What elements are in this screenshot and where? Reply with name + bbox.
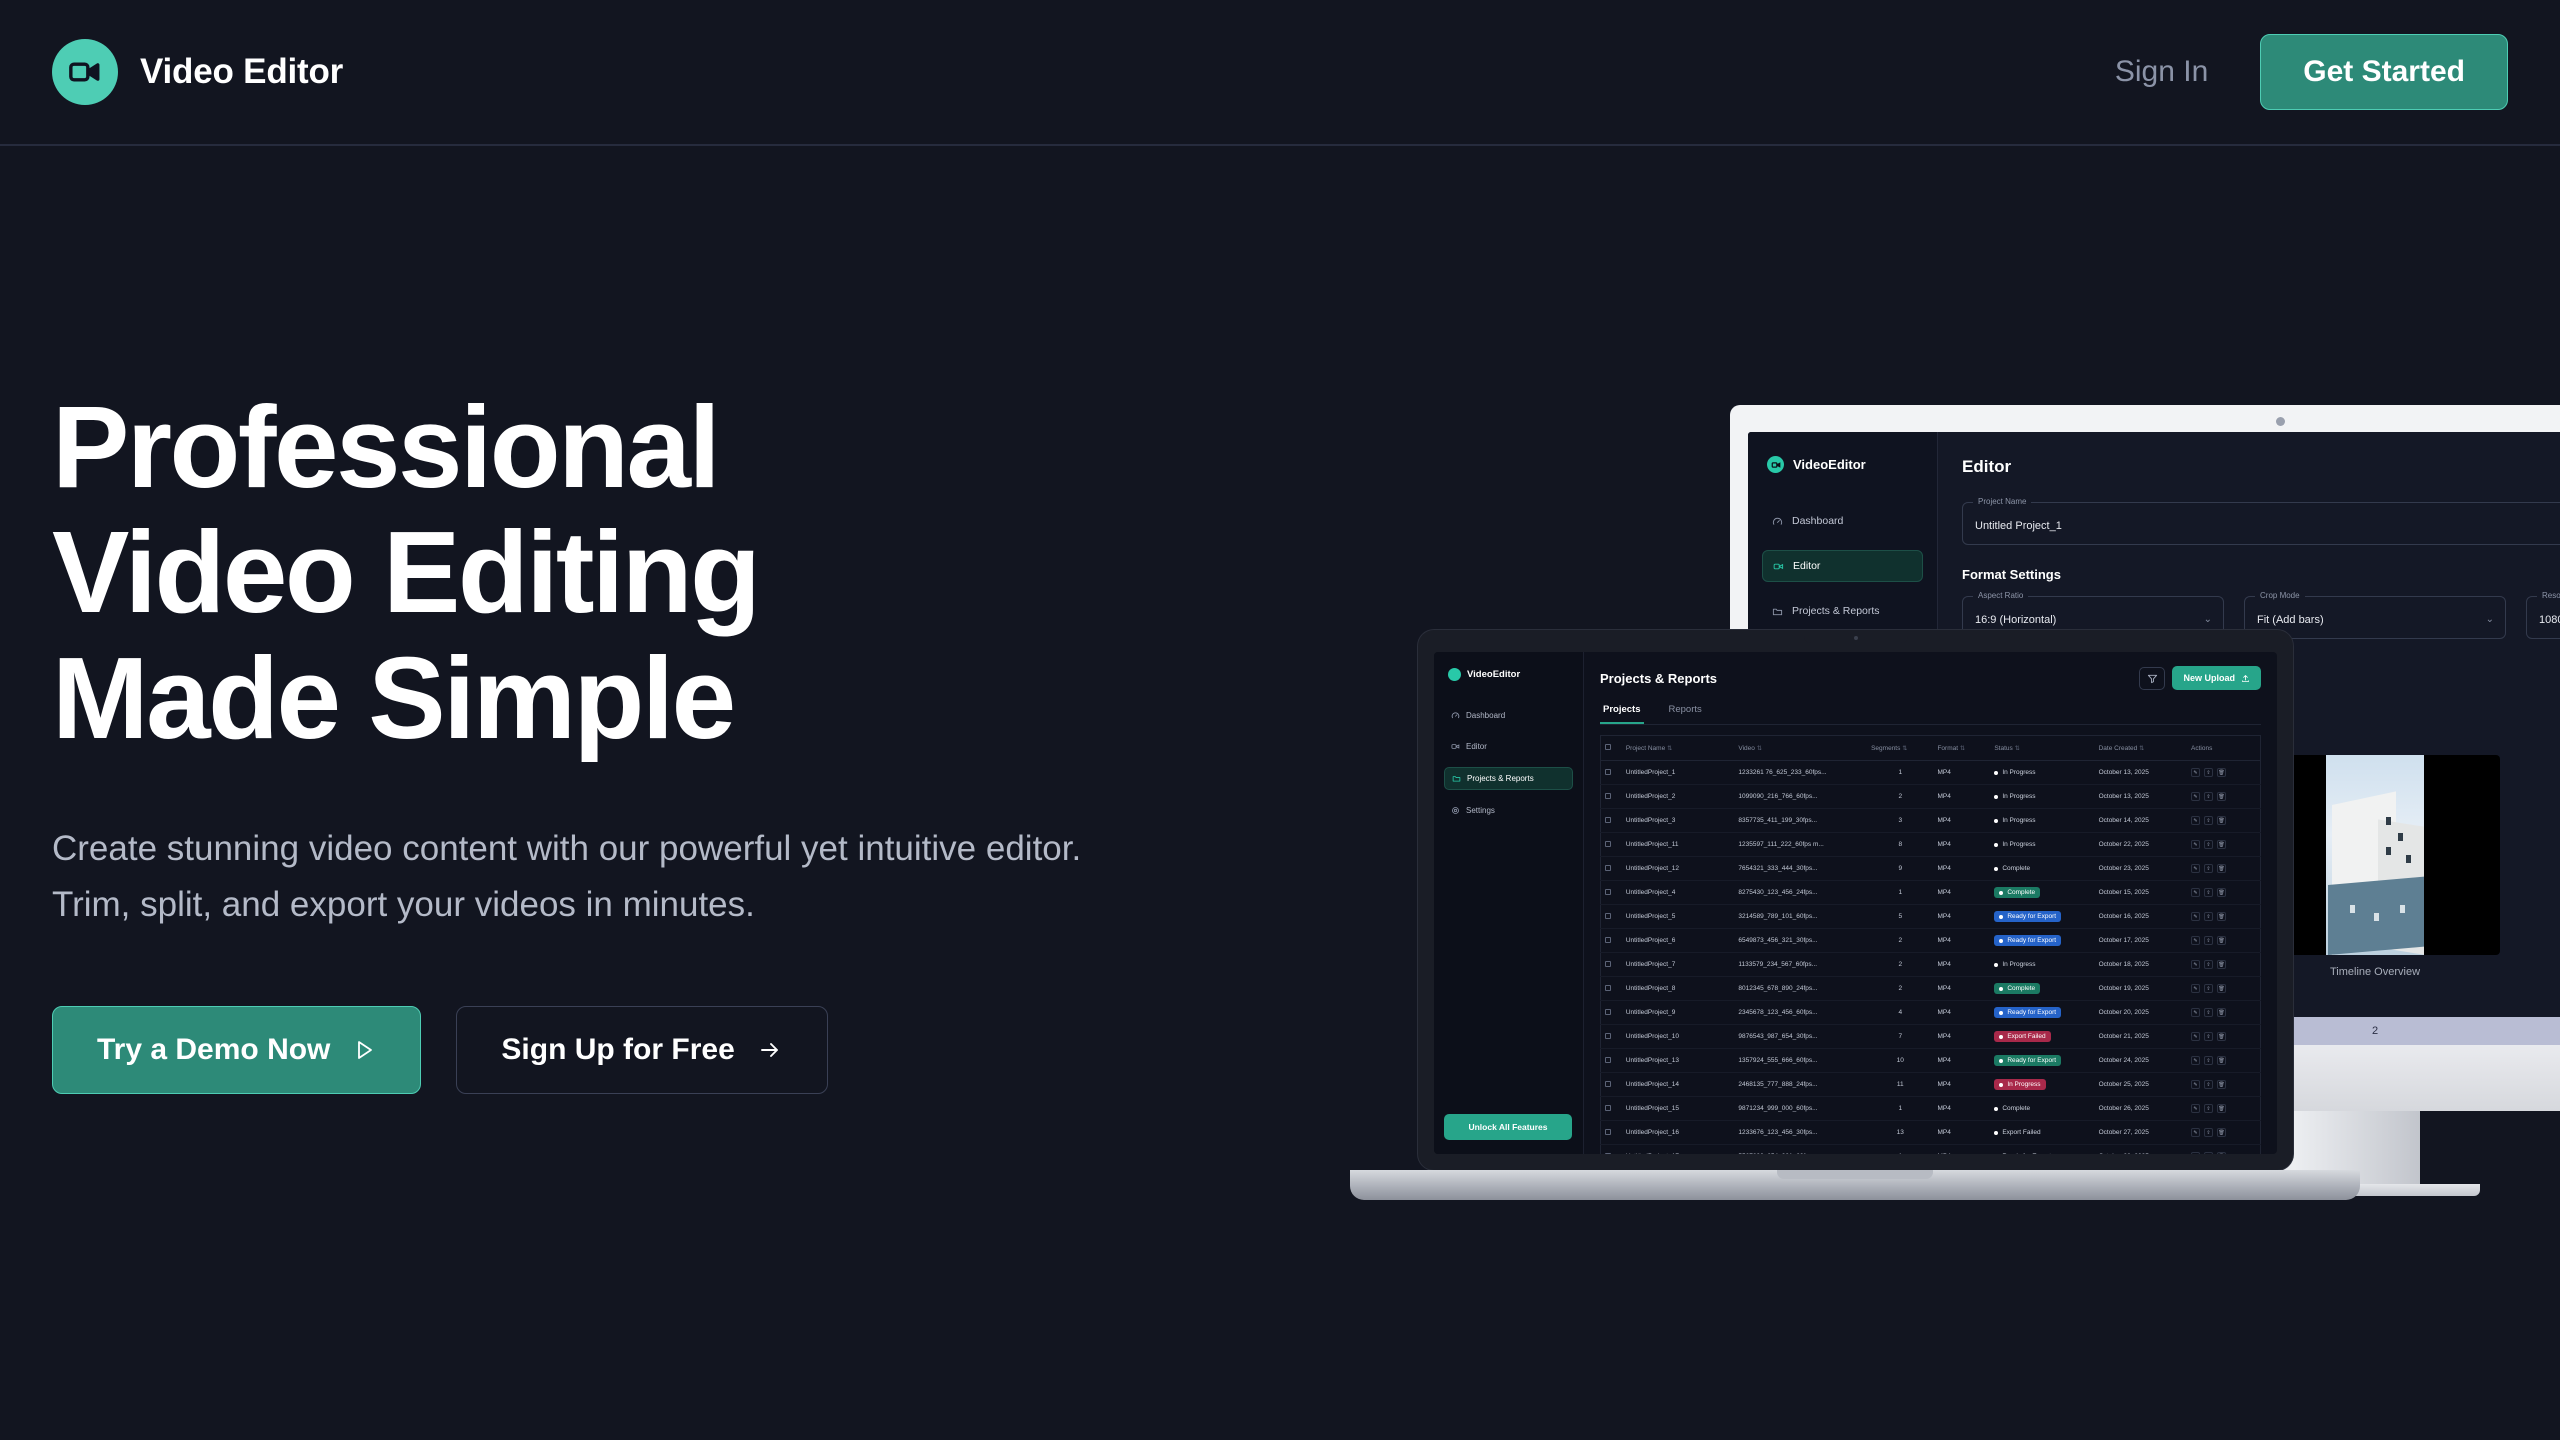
row-checkbox[interactable] (1601, 833, 1622, 857)
cell-actions: ✎⇧🗑 (2187, 953, 2261, 977)
sidebar-item-label: Dashboard (1466, 711, 1505, 720)
cell-segments: 1 (1867, 761, 1933, 785)
cell-actions: ✎⇧🗑 (2187, 785, 2261, 809)
export-icon[interactable]: ⇧ (2204, 840, 2213, 849)
projects-page-title: Projects & Reports (1600, 671, 1717, 686)
cell-video: 2468135_777_888_24fps... (1734, 1073, 1867, 1097)
status-badge: Ready for Export (1994, 1055, 2061, 1066)
sidebar-item-label: Dashboard (1792, 515, 1843, 527)
delete-icon[interactable]: 🗑 (2217, 816, 2226, 825)
delete-icon[interactable]: 🗑 (2217, 864, 2226, 873)
cell-project-name: UntitledProject_12 (1622, 857, 1735, 881)
cell-status: Ready for Export (1990, 1001, 2094, 1025)
cell-status: Export Failed (1990, 1121, 2094, 1145)
cell-date-created: October 13, 2025 (2095, 785, 2187, 809)
cell-actions: ✎⇧🗑 (2187, 833, 2261, 857)
cell-segments: 2 (1867, 929, 1933, 953)
cell-project-name: UntitledProject_15 (1622, 1097, 1735, 1121)
cell-status: In Progress (1990, 809, 2094, 833)
table-row[interactable]: UntitledProject_109876543_987_654_30fps.… (1601, 1025, 2261, 1049)
cell-format: MP4 (1933, 977, 1990, 1001)
export-icon[interactable]: ⇧ (2204, 1008, 2213, 1017)
cell-segments: 13 (1867, 1121, 1933, 1145)
cell-video: 1133579_234_567_60fps... (1734, 953, 1867, 977)
cell-format: MP4 (1933, 953, 1990, 977)
cell-video: 6549873_456_321_30fps... (1734, 929, 1867, 953)
edit-icon[interactable]: ✎ (2191, 888, 2200, 897)
cell-actions: ✎⇧🗑 (2187, 1025, 2261, 1049)
table-row[interactable]: UntitledProject_48275430_123_456_24fps..… (1601, 881, 2261, 905)
export-icon[interactable]: ⇧ (2204, 1152, 2213, 1154)
table-row[interactable]: UntitledProject_159871234_999_000_60fps.… (1601, 1097, 2261, 1121)
row-checkbox[interactable] (1601, 1049, 1622, 1073)
new-upload-label: New Upload (2183, 673, 2235, 683)
cell-actions: ✎⇧🗑 (2187, 929, 2261, 953)
cell-status: Complete (1990, 1097, 2094, 1121)
row-checkbox[interactable] (1601, 1025, 1622, 1049)
table-row[interactable]: UntitledProject_92345678_123_456_60fps..… (1601, 1001, 2261, 1025)
laptop-camera-dot (1854, 636, 1858, 640)
export-icon[interactable]: ⇧ (2204, 816, 2213, 825)
delete-icon[interactable]: 🗑 (2217, 1080, 2226, 1089)
cell-status: Complete (1990, 857, 2094, 881)
row-checkbox[interactable] (1601, 1097, 1622, 1121)
delete-icon[interactable]: 🗑 (2217, 936, 2226, 945)
cell-date-created: October 21, 2025 (2095, 1025, 2187, 1049)
cell-segments: 2 (1867, 977, 1933, 1001)
sidebar-item-dashboard[interactable]: Dashboard (1444, 705, 1573, 726)
row-checkbox[interactable] (1601, 881, 1622, 905)
cell-video: 9871234_999_000_60fps... (1734, 1097, 1867, 1121)
sign-in-button[interactable]: Sign In (2115, 55, 2208, 89)
cell-date-created: October 13, 2025 (2095, 761, 2187, 785)
cell-project-name: UntitledProject_11 (1622, 833, 1735, 857)
edit-icon[interactable]: ✎ (2191, 864, 2200, 873)
edit-icon[interactable]: ✎ (2191, 768, 2200, 777)
cell-format: MP4 (1933, 809, 1990, 833)
cell-segments: 3 (1867, 809, 1933, 833)
row-checkbox[interactable] (1601, 1121, 1622, 1145)
export-icon[interactable]: ⇧ (2204, 768, 2213, 777)
editor-brand-name: VideoEditor (1793, 457, 1866, 472)
cell-format: MP4 (1933, 1073, 1990, 1097)
cell-format: MP4 (1933, 857, 1990, 881)
row-checkbox[interactable] (1601, 761, 1622, 785)
cell-actions: ✎⇧🗑 (2187, 809, 2261, 833)
projects-brand-name: VideoEditor (1467, 669, 1520, 680)
delete-icon[interactable]: 🗑 (2217, 768, 2226, 777)
cell-status: In Progress (1990, 953, 2094, 977)
cell-segments: 11 (1867, 1073, 1933, 1097)
folder-icon (1772, 606, 1783, 617)
table-row[interactable]: UntitledProject_131357924_555_666_60fps.… (1601, 1049, 2261, 1073)
row-checkbox[interactable] (1601, 809, 1622, 833)
table-row[interactable]: UntitledProject_21099090_216_766_60fps..… (1601, 785, 2261, 809)
status-badge: Complete (1994, 1103, 2035, 1114)
table-row[interactable]: UntitledProject_66549873_456_321_30fps..… (1601, 929, 2261, 953)
cell-status: Ready for Export (1990, 905, 2094, 929)
cell-project-name: UntitledProject_4 (1622, 881, 1735, 905)
export-icon[interactable]: ⇧ (2204, 912, 2213, 921)
project-name-label: Project Name (1973, 497, 2031, 506)
export-icon[interactable]: ⇧ (2204, 1032, 2213, 1041)
delete-icon[interactable]: 🗑 (2217, 912, 2226, 921)
upload-icon (2241, 674, 2250, 683)
row-checkbox[interactable] (1601, 1001, 1622, 1025)
cell-video: 7654321_333_444_30fps... (1734, 857, 1867, 881)
sidebar-item-label: Editor (1793, 560, 1820, 572)
status-badge: In Progress (1994, 815, 2040, 826)
edit-icon[interactable]: ✎ (2191, 1008, 2200, 1017)
aspect-ratio-label: Aspect Ratio (1973, 591, 2028, 600)
crop-mode-value: Fit (Add bars) (2257, 614, 2324, 626)
cell-project-name: UntitledProject_16 (1622, 1121, 1735, 1145)
status-badge: Complete (1994, 863, 2035, 874)
table-row[interactable]: UntitledProject_127654321_333_444_30fps.… (1601, 857, 2261, 881)
cell-date-created: October 24, 2025 (2095, 1049, 2187, 1073)
video-camera-icon (1767, 456, 1784, 473)
table-row[interactable]: UntitledProject_71133579_234_567_60fps..… (1601, 953, 2261, 977)
cell-status: Ready for Export (1990, 929, 2094, 953)
cell-status: Ready for Export (1990, 1145, 2094, 1155)
video-camera-icon (1448, 668, 1461, 681)
sidebar-item-label: Projects & Reports (1467, 774, 1534, 783)
export-icon[interactable]: ⇧ (2204, 1056, 2213, 1065)
cell-date-created: October 17, 2025 (2095, 929, 2187, 953)
cell-segments: 10 (1867, 1049, 1933, 1073)
editor-sidebar-brand: VideoEditor (1762, 456, 1923, 473)
table-row[interactable]: UntitledProject_111235597_111_222_60fps … (1601, 833, 2261, 857)
edit-icon[interactable]: ✎ (2191, 1104, 2200, 1113)
select-all-checkbox[interactable] (1601, 736, 1622, 761)
cell-segments: 4 (1867, 1001, 1933, 1025)
cell-actions: ✎⇧🗑 (2187, 1049, 2261, 1073)
cell-project-name: UntitledProject_3 (1622, 809, 1735, 833)
delete-icon[interactable]: 🗑 (2217, 1104, 2226, 1113)
chevron-down-icon: ⌄ (2486, 614, 2494, 625)
row-checkbox[interactable] (1601, 977, 1622, 1001)
cell-actions: ✎⇧🗑 (2187, 761, 2261, 785)
sign-up-label: Sign Up for Free (501, 1033, 734, 1067)
cell-format: MP4 (1933, 1097, 1990, 1121)
edit-icon[interactable]: ✎ (2191, 1080, 2200, 1089)
status-badge: In Progress (1994, 791, 2040, 802)
cell-date-created: October 15, 2025 (2095, 881, 2187, 905)
cell-video: 8012345_678_890_24fps... (1734, 977, 1867, 1001)
cell-video: 9876543_987_654_30fps... (1734, 1025, 1867, 1049)
cell-video: 8275430_123_456_24fps... (1734, 881, 1867, 905)
folder-icon (1452, 774, 1461, 783)
cell-date-created: October 19, 2025 (2095, 977, 2187, 1001)
cell-status: Complete (1990, 977, 2094, 1001)
delete-icon[interactable]: 🗑 (2217, 1032, 2226, 1041)
cell-segments: 1 (1867, 881, 1933, 905)
cell-format: MP4 (1933, 1121, 1990, 1145)
cell-date-created: October 25, 2025 (2095, 1073, 2187, 1097)
cell-date-created: October 26, 2025 (2095, 1097, 2187, 1121)
cell-actions: ✎⇧🗑 (2187, 905, 2261, 929)
edit-icon[interactable]: ✎ (2191, 1152, 2200, 1154)
cell-project-name: UntitledProject_14 (1622, 1073, 1735, 1097)
video-camera-icon (1451, 742, 1460, 751)
editor-topbar: Editor Save Exp (1962, 452, 2560, 482)
cell-video: 3214589_789_101_60fps... (1734, 905, 1867, 929)
cell-segments: 7 (1867, 1025, 1933, 1049)
resolution-select[interactable]: Resolution 1080p (1920x1080) ⌄ (2526, 596, 2560, 639)
table-row[interactable]: UntitledProject_142468135_777_888_24fps.… (1601, 1073, 2261, 1097)
play-triangle-icon (352, 1038, 376, 1062)
gauge-icon (1451, 711, 1460, 720)
status-badge: Export Failed (1994, 1127, 2045, 1138)
landing-page: Video Editor Sign In Get Started Profess… (0, 0, 2560, 1440)
resolution-label: Resolution (2537, 591, 2560, 600)
projects-top-actions: New Upload (2139, 666, 2261, 690)
cell-video: 1357924_555_666_60fps... (1734, 1049, 1867, 1073)
cell-date-created: October 20, 2025 (2095, 1001, 2187, 1025)
export-icon[interactable]: ⇧ (2204, 1080, 2213, 1089)
format-settings-title: Format Settings (1962, 567, 2560, 582)
gear-icon (1451, 806, 1460, 815)
delete-icon[interactable]: 🗑 (2217, 960, 2226, 969)
column-segments[interactable]: Segments⇅ (1867, 736, 1933, 761)
export-icon[interactable]: ⇧ (2204, 936, 2213, 945)
new-upload-button[interactable]: New Upload (2172, 666, 2261, 690)
row-checkbox[interactable] (1601, 953, 1622, 977)
hero-title-line-2: Video Editing (52, 507, 759, 637)
cell-status: In Progress (1990, 761, 2094, 785)
arrow-right-icon (757, 1038, 783, 1062)
cell-segments: 9 (1867, 857, 1933, 881)
column-actions: Actions (2187, 736, 2261, 761)
row-checkbox[interactable] (1601, 1073, 1622, 1097)
site-header: Video Editor Sign In Get Started (0, 0, 2560, 146)
column-project-name[interactable]: Project Name⇅ (1622, 736, 1735, 761)
row-checkbox[interactable] (1601, 1145, 1622, 1155)
cell-format: MP4 (1933, 1025, 1990, 1049)
delete-icon[interactable]: 🗑 (2217, 792, 2226, 801)
column-status[interactable]: Status⇅ (1990, 736, 2094, 761)
cell-format: MP4 (1933, 761, 1990, 785)
delete-icon[interactable]: 🗑 (2217, 888, 2226, 897)
table-row[interactable]: UntitledProject_161233676_123_456_30fps.… (1601, 1121, 2261, 1145)
brand[interactable]: Video Editor (52, 39, 343, 105)
hero-title-line-1: Professional (52, 382, 718, 512)
cell-project-name: UntitledProject_13 (1622, 1049, 1735, 1073)
cell-date-created: October 28, 2025 (2095, 1145, 2187, 1155)
cell-format: MP4 (1933, 1001, 1990, 1025)
laptop-trackpad-notch (1777, 1170, 1933, 1179)
cell-format: MP4 (1933, 929, 1990, 953)
cell-status: In Progress (1990, 1073, 2094, 1097)
table-row[interactable]: UntitledProject_88012345_678_890_24fps..… (1601, 977, 2261, 1001)
cell-date-created: October 14, 2025 (2095, 809, 2187, 833)
cell-project-name: UntitledProject_8 (1622, 977, 1735, 1001)
row-checkbox[interactable] (1601, 857, 1622, 881)
cell-date-created: October 16, 2025 (2095, 905, 2187, 929)
hero-cta-row: Try a Demo Now Sign Up for Free (52, 1006, 1112, 1094)
export-icon[interactable]: ⇧ (2204, 984, 2213, 993)
delete-icon[interactable]: 🗑 (2217, 1056, 2226, 1065)
edit-icon[interactable]: ✎ (2191, 1056, 2200, 1065)
cell-segments: 2 (1867, 785, 1933, 809)
cell-actions: ✎⇧🗑 (2187, 1121, 2261, 1145)
cell-date-created: October 23, 2025 (2095, 857, 2187, 881)
cell-segments: 5 (1867, 905, 1933, 929)
laptop-lid: VideoEditor Dashboard (1418, 630, 2293, 1170)
cell-video: 1233261 76_625_233_60fps... (1734, 761, 1867, 785)
export-icon[interactable]: ⇧ (2204, 960, 2213, 969)
cell-format: MP4 (1933, 1145, 1990, 1155)
cell-project-name: UntitledProject_2 (1622, 785, 1735, 809)
cell-video: 8357735_411_199_30fps... (1734, 809, 1867, 833)
cell-project-name: UntitledProject_7 (1622, 953, 1735, 977)
export-icon[interactable]: ⇧ (2204, 888, 2213, 897)
projects-table: Project Name⇅ Video⇅ Segments⇅ Format⇅ S… (1600, 735, 2261, 1154)
cell-status: Complete (1990, 881, 2094, 905)
laptop-screen: VideoEditor Dashboard (1434, 652, 2277, 1154)
status-badge: Ready for Export (1994, 911, 2061, 922)
cell-format: MP4 (1933, 881, 1990, 905)
cell-actions: ✎⇧🗑 (2187, 1073, 2261, 1097)
export-icon[interactable]: ⇧ (2204, 792, 2213, 801)
sidebar-item-projects-reports[interactable]: Projects & Reports (1762, 596, 1923, 626)
aspect-ratio-value: 16:9 (Horizontal) (1975, 614, 2056, 626)
cell-actions: ✎⇧🗑 (2187, 857, 2261, 881)
delete-icon[interactable]: 🗑 (2217, 840, 2226, 849)
cell-video: 1233676_123_456_30fps... (1734, 1121, 1867, 1145)
edit-icon[interactable]: ✎ (2191, 792, 2200, 801)
sign-up-free-button[interactable]: Sign Up for Free (456, 1006, 827, 1094)
delete-icon[interactable]: 🗑 (2217, 984, 2226, 993)
header-actions: Sign In Get Started (2115, 34, 2508, 110)
cell-video: 1235597_111_222_60fps m... (1734, 833, 1867, 857)
cell-video: 2345678_123_456_60fps... (1734, 1001, 1867, 1025)
sidebar-item-settings[interactable]: Settings (1444, 800, 1573, 821)
cell-status: In Progress (1990, 833, 2094, 857)
cell-video: 5567890_654_321_60fps... (1734, 1145, 1867, 1155)
get-started-button[interactable]: Get Started (2260, 34, 2508, 110)
edit-icon[interactable]: ✎ (2191, 984, 2200, 993)
tab-projects[interactable]: Projects (1600, 704, 1644, 724)
export-icon[interactable]: ⇧ (2204, 864, 2213, 873)
cell-project-name: UntitledProject_17 (1622, 1145, 1735, 1155)
table-body: UntitledProject_11233261 76_625_233_60fp… (1601, 761, 2261, 1155)
column-date-created[interactable]: Date Created⇅ (2095, 736, 2187, 761)
cell-project-name: UntitledProject_1 (1622, 761, 1735, 785)
cell-format: MP4 (1933, 1049, 1990, 1073)
delete-icon[interactable]: 🗑 (2217, 1128, 2226, 1137)
sidebar-item-dashboard[interactable]: Dashboard (1762, 506, 1923, 536)
sidebar-item-label: Settings (1466, 806, 1495, 815)
cell-segments: 2 (1867, 953, 1933, 977)
tab-reports[interactable]: Reports (1666, 704, 1705, 724)
projects-sidebar-brand: VideoEditor (1444, 668, 1573, 681)
cell-actions: ✎⇧🗑 (2187, 977, 2261, 1001)
cell-project-name: UntitledProject_5 (1622, 905, 1735, 929)
crop-mode-label: Crop Mode (2255, 591, 2305, 600)
table-row[interactable]: UntitledProject_11233261 76_625_233_60fp… (1601, 761, 2261, 785)
table-row[interactable]: UntitledProject_53214589_789_101_60fps..… (1601, 905, 2261, 929)
table-row[interactable]: UntitledProject_175567890_654_321_60fps.… (1601, 1145, 2261, 1155)
export-icon[interactable]: ⇧ (2204, 1128, 2213, 1137)
row-checkbox[interactable] (1601, 929, 1622, 953)
status-badge: In Progress (1994, 959, 2040, 970)
status-badge: Ready for Export (1994, 1007, 2061, 1018)
delete-icon[interactable]: 🗑 (2217, 1008, 2226, 1017)
projects-main: Projects & Reports New Upload (1584, 652, 2277, 1154)
unlock-all-features-button[interactable]: Unlock All Features (1444, 1114, 1572, 1140)
column-video[interactable]: Video⇅ (1734, 736, 1867, 761)
resolution-value: 1080p (1920x1080) (2539, 614, 2560, 626)
cell-segments: 8 (1867, 833, 1933, 857)
status-badge: In Progress (1994, 1079, 2045, 1090)
projects-topbar: Projects & Reports New Upload (1600, 666, 2261, 690)
try-demo-button[interactable]: Try a Demo Now (52, 1006, 421, 1094)
funnel-icon[interactable] (2139, 667, 2165, 690)
cell-video: 1099090_216_766_60fps... (1734, 785, 1867, 809)
table-row[interactable]: UntitledProject_38357735_411_199_30fps..… (1601, 809, 2261, 833)
brand-name: Video Editor (140, 52, 343, 92)
device-mockups: VideoEditor Dashboard (1350, 390, 2560, 1250)
status-badge: In Progress (1994, 767, 2040, 778)
cell-format: MP4 (1933, 905, 1990, 929)
table-header: Project Name⇅ Video⇅ Segments⇅ Format⇅ S… (1601, 736, 2261, 761)
sidebar-item-projects-reports[interactable]: Projects & Reports (1444, 767, 1573, 790)
video-camera-icon (1773, 561, 1784, 572)
projects-tabs: Projects Reports (1600, 704, 2261, 725)
delete-icon[interactable]: 🗑 (2217, 1152, 2226, 1154)
cell-project-name: UntitledProject_9 (1622, 1001, 1735, 1025)
edit-icon[interactable]: ✎ (2191, 936, 2200, 945)
project-name-field[interactable]: Project Name Untitled Project_1 (1962, 502, 2560, 545)
cell-actions: ✎⇧🗑 (2187, 1097, 2261, 1121)
cell-segments: 1 (1867, 1097, 1933, 1121)
edit-icon[interactable]: ✎ (2191, 840, 2200, 849)
video-camera-icon (52, 39, 118, 105)
cell-actions: ✎⇧🗑 (2187, 1145, 2261, 1155)
status-badge: Complete (1994, 887, 2040, 898)
edit-icon[interactable]: ✎ (2191, 1128, 2200, 1137)
status-badge: Complete (1994, 983, 2040, 994)
status-badge: Export Failed (1994, 1031, 2050, 1042)
export-icon[interactable]: ⇧ (2204, 1104, 2213, 1113)
edit-icon[interactable]: ✎ (2191, 816, 2200, 825)
status-badge: Ready for Export (1994, 935, 2061, 946)
sidebar-item-editor[interactable]: Editor (1444, 736, 1573, 757)
try-demo-label: Try a Demo Now (97, 1033, 330, 1067)
hero-section: Professional Video Editing Made Simple C… (52, 385, 1112, 1094)
row-checkbox[interactable] (1601, 905, 1622, 929)
cell-date-created: October 18, 2025 (2095, 953, 2187, 977)
cell-date-created: October 27, 2025 (2095, 1121, 2187, 1145)
column-format[interactable]: Format⇅ (1933, 736, 1990, 761)
cell-status: Export Failed (1990, 1025, 2094, 1049)
edit-icon[interactable]: ✎ (2191, 960, 2200, 969)
gauge-icon (1772, 516, 1783, 527)
cell-date-created: October 22, 2025 (2095, 833, 2187, 857)
cell-format: MP4 (1933, 833, 1990, 857)
project-name-value: Untitled Project_1 (1975, 520, 2062, 532)
cell-status: In Progress (1990, 785, 2094, 809)
page-title: Professional Video Editing Made Simple (52, 385, 1112, 761)
edit-icon[interactable]: ✎ (2191, 912, 2200, 921)
cell-project-name: UntitledProject_10 (1622, 1025, 1735, 1049)
sidebar-item-label: Projects & Reports (1792, 605, 1880, 617)
sidebar-item-editor[interactable]: Editor (1762, 550, 1923, 582)
edit-icon[interactable]: ✎ (2191, 1032, 2200, 1041)
row-checkbox[interactable] (1601, 785, 1622, 809)
hero-title-line-3: Made Simple (52, 633, 734, 763)
